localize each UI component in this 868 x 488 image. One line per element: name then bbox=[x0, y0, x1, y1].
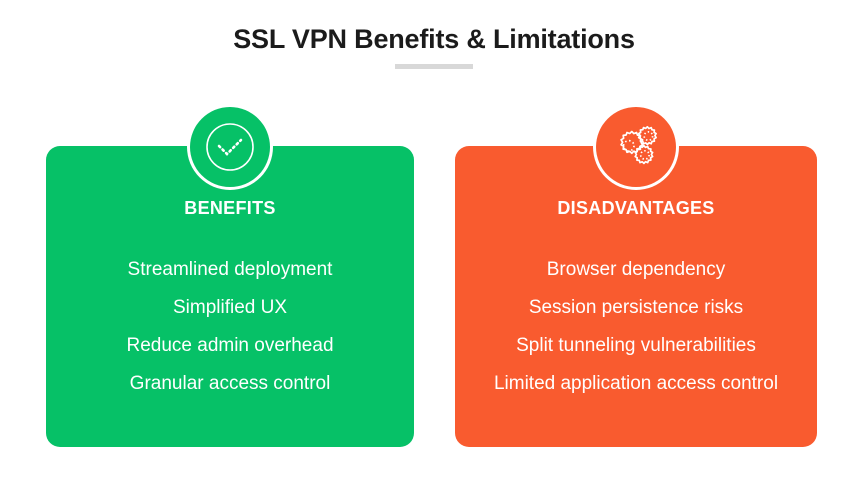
list-item: Streamlined deployment bbox=[46, 251, 414, 289]
disadvantages-heading: DISADVANTAGES bbox=[455, 198, 817, 219]
gears-icon bbox=[610, 121, 662, 173]
disadvantages-list: Browser dependency Session persistence r… bbox=[455, 251, 817, 403]
title-divider bbox=[395, 64, 473, 69]
disadvantages-badge bbox=[593, 104, 679, 190]
list-item: Browser dependency bbox=[455, 251, 817, 289]
list-item: Session persistence risks bbox=[455, 289, 817, 327]
list-item: Granular access control bbox=[46, 365, 414, 403]
benefits-card: BENEFITS Streamlined deployment Simplifi… bbox=[46, 146, 414, 447]
badge-circle bbox=[190, 107, 270, 187]
benefits-list: Streamlined deployment Simplified UX Red… bbox=[46, 251, 414, 403]
page-title: SSL VPN Benefits & Limitations bbox=[0, 24, 868, 55]
benefits-heading: BENEFITS bbox=[46, 198, 414, 219]
list-item: Reduce admin overhead bbox=[46, 327, 414, 365]
badge-circle bbox=[596, 107, 676, 187]
benefits-badge bbox=[187, 104, 273, 190]
list-item: Limited application access control bbox=[455, 365, 817, 403]
disadvantages-card: DISADVANTAGES Browser dependency Session… bbox=[455, 146, 817, 447]
check-circle-icon bbox=[204, 121, 256, 173]
list-item: Split tunneling vulnerabilities bbox=[455, 327, 817, 365]
list-item: Simplified UX bbox=[46, 289, 414, 327]
